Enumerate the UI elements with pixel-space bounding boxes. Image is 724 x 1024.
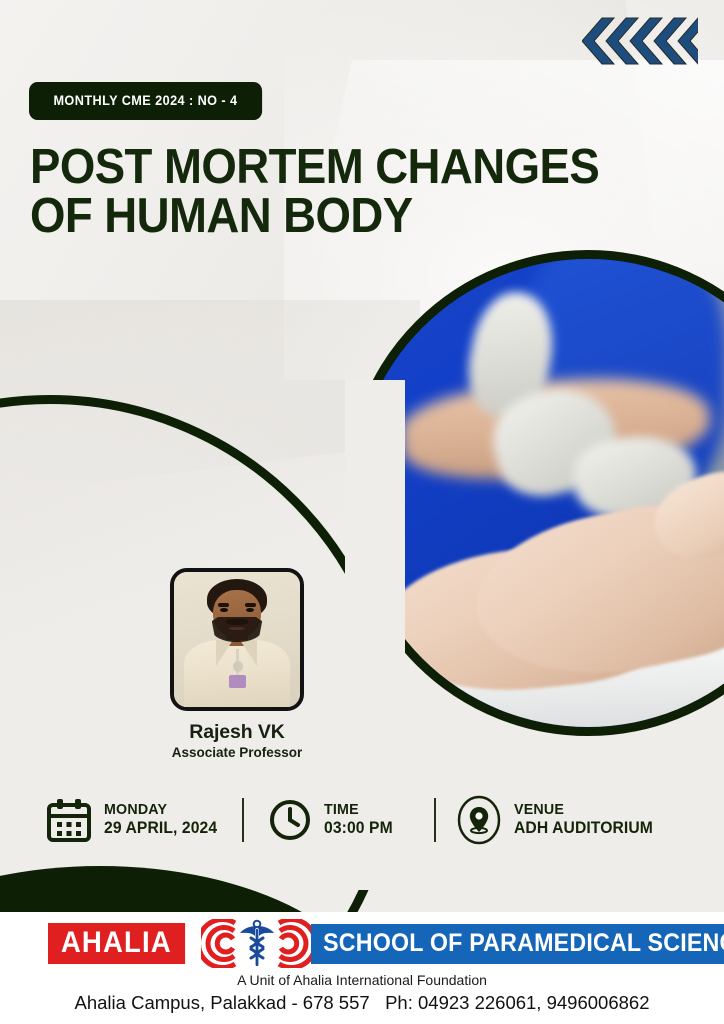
detail-venue-text: VENUE ADH AUDITORIUM — [514, 801, 660, 838]
speaker-role: Associate Professor — [152, 745, 322, 760]
speaker-eyebrow-right — [245, 603, 256, 607]
arc-mask-right — [345, 380, 405, 780]
detail-time-label: TIME — [324, 801, 393, 819]
speaker-collar-right — [240, 640, 257, 666]
speaker-collar-left — [216, 640, 233, 666]
speaker-name: Rajesh VK — [152, 721, 322, 744]
speaker-eye-left — [220, 608, 228, 612]
detail-venue: VENUE ADH AUDITORIUM — [456, 795, 660, 845]
speaker-eye-right — [246, 608, 254, 612]
footer: AHALIA — [0, 912, 724, 1024]
hero-photo — [354, 259, 724, 727]
school-name-box: SCHOOL OF PARAMEDICAL SCIENCES — [311, 924, 724, 964]
calendar-icon — [46, 797, 92, 843]
cme-badge: MONTHLY CME 2024 : NO - 4 — [29, 82, 262, 120]
speaker-eyebrow-left — [218, 603, 229, 607]
speaker-id-card — [229, 675, 245, 689]
caduceus-icon — [201, 919, 313, 968]
detail-venue-value: ADH AUDITORIUM — [514, 819, 653, 838]
detail-divider-2 — [434, 798, 436, 842]
detail-time-text: TIME 03:00 PM — [324, 801, 396, 838]
detail-date: MONDAY 29 APRIL, 2024 — [46, 797, 223, 843]
location-pin-icon — [456, 795, 502, 845]
detail-divider-1 — [242, 798, 244, 842]
footer-address-line: Ahalia Campus, Palakkad - 678 557 Ph: 04… — [0, 992, 724, 1014]
detail-date-text: MONDAY 29 APRIL, 2024 — [104, 801, 223, 838]
detail-venue-label: VENUE — [514, 801, 653, 819]
caduceus-logo — [201, 919, 313, 968]
detail-date-label: MONDAY — [104, 801, 217, 819]
speaker-block: Rajesh VK Associate Professor — [152, 568, 322, 760]
chevron-left-icon — [582, 16, 698, 66]
event-details-strip: MONDAY 29 APRIL, 2024 TIME 03:00 PM — [0, 786, 724, 854]
detail-time: TIME 03:00 PM — [268, 798, 396, 842]
footer-unit-line: A Unit of Ahalia International Foundatio… — [0, 972, 724, 988]
detail-time-value: 03:00 PM — [324, 819, 393, 838]
speaker-mouth — [229, 627, 244, 630]
ahalia-brand-box: AHALIA — [48, 923, 185, 964]
poster-root: MONTHLY CME 2024 : NO - 4 POST MORTEM CH… — [0, 0, 724, 1024]
speaker-photo — [170, 568, 304, 711]
chevron-logo-group — [582, 16, 698, 66]
speaker-pocket-badge — [233, 661, 243, 672]
clock-icon — [268, 798, 312, 842]
footer-logo-row: AHALIA — [48, 919, 724, 968]
speaker-moustache — [226, 619, 249, 624]
detail-date-value: 29 APRIL, 2024 — [104, 819, 217, 838]
page-title: POST MORTEM CHANGES OF HUMAN BODY — [30, 143, 644, 240]
